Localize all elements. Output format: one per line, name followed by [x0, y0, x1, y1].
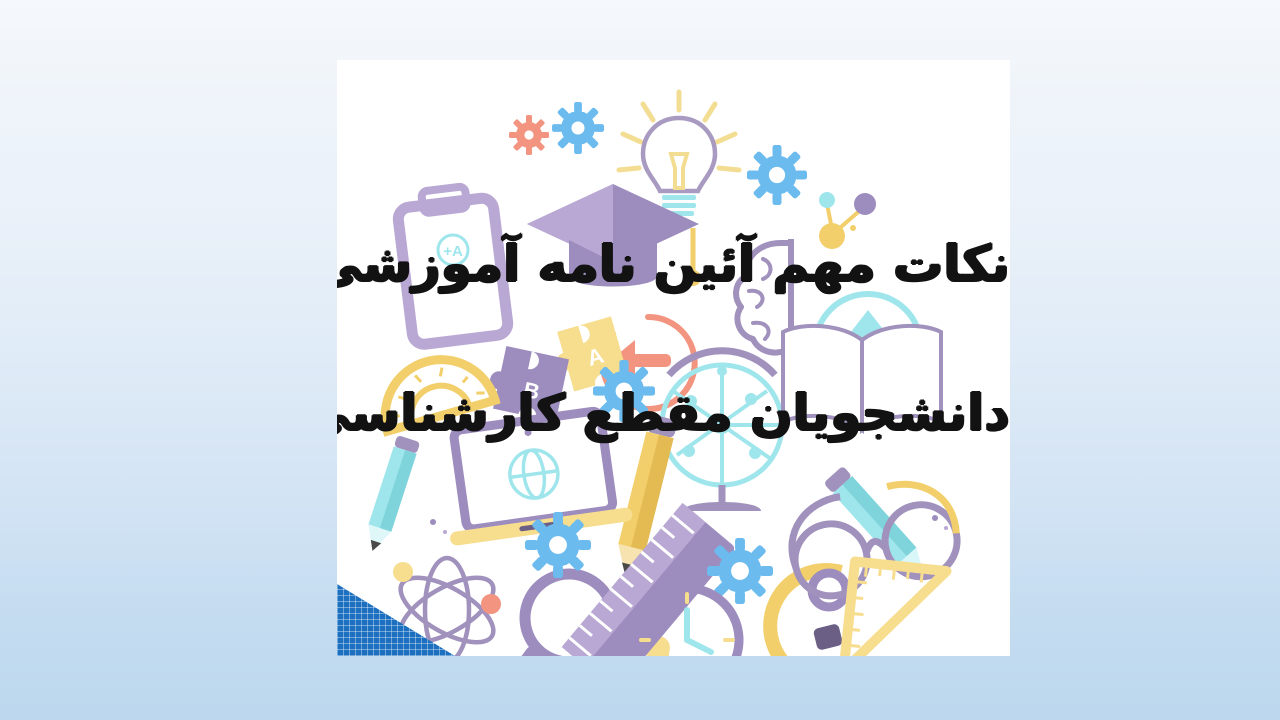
headline-block: نکات مهم آئین نامه آموزشی دانشجویان مقطع…: [337, 238, 1010, 440]
gear-salmon-icon: [509, 115, 549, 155]
confetti-dots-icon: [425, 512, 455, 542]
gear-blue-bottom-icon: [525, 512, 591, 578]
slide-title-line-1: نکات مهم آئین نامه آموزشی: [337, 238, 1010, 291]
triangle-ruler-icon: [835, 556, 955, 656]
confetti-dots-right-icon: [925, 506, 955, 536]
corner-wedge-decoration: [337, 584, 455, 656]
eraser-icon: [635, 632, 675, 656]
content-card: A+: [337, 60, 1010, 656]
eyeglasses-icon: [777, 480, 977, 610]
ruler-icon: [557, 500, 747, 656]
atom-icon: [381, 544, 513, 656]
pencil-cyan-icon: [849, 450, 911, 600]
slide-title-line-2: دانشجویان مقطع کارشناسی: [337, 387, 1010, 440]
lightbulb-icon: [613, 88, 745, 238]
slide-root: A+: [0, 0, 1280, 720]
gear-blue-right-icon: [747, 145, 807, 205]
microscope-icon: [745, 552, 885, 656]
clock-icon: [625, 578, 749, 656]
gear-blue-lower-icon: [707, 538, 773, 604]
magnifier-icon: [497, 560, 635, 656]
gear-blue-top-icon: [552, 102, 604, 154]
pencil-cyan-small-icon: [363, 432, 419, 562]
